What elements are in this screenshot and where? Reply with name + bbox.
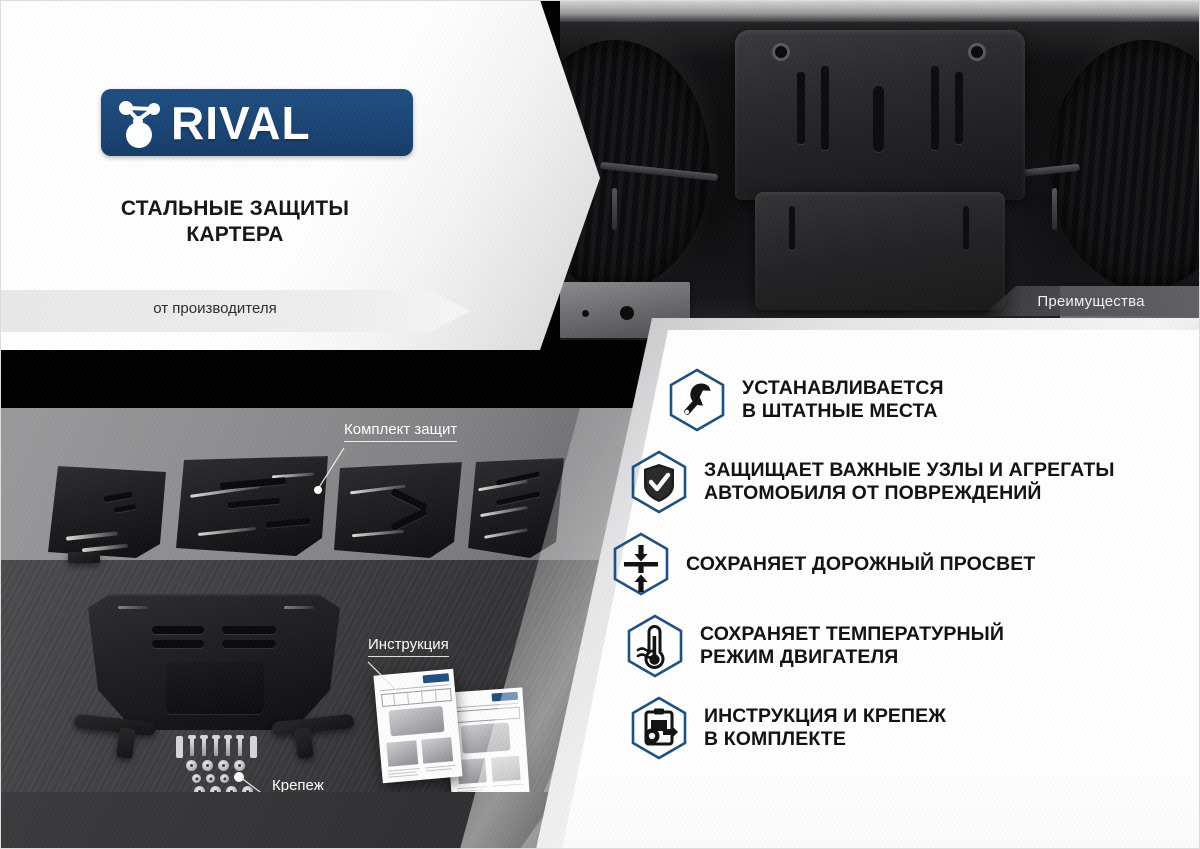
photo-plate-slot xyxy=(931,66,939,150)
sheet-photo xyxy=(386,740,418,767)
tab-advantages-label: Преимущества xyxy=(1037,293,1144,310)
instruction-sheet-front xyxy=(373,669,462,784)
bolt xyxy=(238,737,242,756)
plate-chevron xyxy=(390,488,427,511)
photo-pad-hole xyxy=(620,306,634,320)
sheet-table-cell xyxy=(435,690,437,701)
molecule-icon xyxy=(113,96,169,150)
page-title: СТАЛЬНЫЕ ЗАЩИТЫ КАРТЕРА xyxy=(0,196,470,248)
rival-logo: RIVAL xyxy=(101,89,413,156)
skid-plate-3 xyxy=(334,462,462,558)
washer xyxy=(234,760,245,771)
plate-highlight xyxy=(352,530,404,538)
plate-groove xyxy=(104,492,133,503)
nut xyxy=(206,774,215,783)
bolt xyxy=(226,737,230,756)
photo-top-edge xyxy=(560,0,1200,22)
shield-check-icon xyxy=(630,450,688,514)
callout-manual: Инструкция xyxy=(368,636,449,657)
plate-recess xyxy=(166,662,264,714)
skid-plate-1-tab xyxy=(68,552,100,563)
header-panel xyxy=(0,0,600,350)
tab-advantages[interactable]: Преимущества xyxy=(982,286,1200,316)
photo-sway-bar-left xyxy=(612,188,617,230)
feature-item-protection: ЗАЩИЩАЕТ ВАЖНЫЕ УЗЛЫ И АГРЕГАТЫ АВТОМОБИ… xyxy=(630,450,1192,514)
main-skid-plate xyxy=(88,594,340,730)
sheet-text-line xyxy=(426,768,452,771)
sheet-table xyxy=(381,688,452,707)
promo-banner: RIVAL СТАЛЬНЫЕ ЗАЩИТЫ КАРТЕРА от произво… xyxy=(0,0,1200,849)
sheet-diagram xyxy=(389,706,445,737)
photo-gearbox-skid-plate xyxy=(755,192,1005,310)
feature-label: УСТАНАВЛИВАЕТСЯ В ШТАТНЫЕ МЕСТА xyxy=(742,377,944,422)
plate-highlight xyxy=(480,506,528,517)
plate-groove xyxy=(114,504,137,513)
ground-clearance-icon xyxy=(612,532,670,596)
plate-chevron xyxy=(390,508,427,531)
feature-label: ЗАЩИЩАЕТ ВАЖНЫЕ УЗЛЫ И АГРЕГАТЫ АВТОМОБИ… xyxy=(704,459,1115,504)
bolt xyxy=(202,737,206,756)
plate-highlight xyxy=(118,606,148,609)
photo-plate-slot xyxy=(821,66,829,150)
sheet-table-cell xyxy=(393,694,395,705)
plate-slot xyxy=(222,626,276,634)
bolt-head xyxy=(224,735,232,739)
photo-pad-hole xyxy=(582,310,589,317)
bolt-head xyxy=(212,735,220,739)
photo-plate-slot xyxy=(797,72,805,144)
skid-plate-2 xyxy=(176,456,328,556)
sheet-text-line xyxy=(388,774,418,778)
bolt-head xyxy=(200,735,208,739)
thermometer-icon xyxy=(626,614,684,678)
bolt xyxy=(214,737,218,756)
wrench-icon xyxy=(668,368,726,432)
photo-plate-center-groove xyxy=(873,86,884,152)
photo-sway-bar-right xyxy=(1052,188,1057,230)
nut xyxy=(192,774,201,783)
sheet-photo xyxy=(421,737,453,764)
bolt-plate xyxy=(250,736,257,758)
page-subtitle: от производителя xyxy=(0,300,430,317)
bolt-plate xyxy=(176,736,183,758)
feature-item-clearance: СОХРАНЯЕТ ДОРОЖНЫЙ ПРОСВЕТ xyxy=(612,532,1192,596)
washer xyxy=(202,760,213,771)
page-title-line2: КАРТЕРА xyxy=(0,222,470,248)
plate-highlight xyxy=(66,531,118,540)
bolt xyxy=(190,737,194,756)
callout-kit: Комплект защит xyxy=(344,421,457,442)
features-list: УСТАНАВЛИВАЕТСЯ В ШТАТНЫЕ МЕСТА ЗАЩИЩАЕТ… xyxy=(612,368,1192,778)
nut xyxy=(234,772,244,782)
photo-plate-slot xyxy=(963,206,969,250)
callout-kit-label: Комплект защит xyxy=(344,421,457,442)
sheet-table-cell xyxy=(421,692,423,703)
feature-item-temperature: СОХРАНЯЕТ ТЕМПЕРАТУРНЫЙ РЕЖИМ ДВИГАТЕЛЯ xyxy=(626,614,1192,678)
plate-groove xyxy=(228,498,280,509)
callout-manual-label: Инструкция xyxy=(368,636,449,657)
photo-plate-slot xyxy=(789,206,795,250)
sheet-table-cell xyxy=(407,693,409,704)
feature-label: СОХРАНЯЕТ ТЕМПЕРАТУРНЫЙ РЕЖИМ ДВИГАТЕЛЯ xyxy=(700,623,1004,668)
clipboard-bolt-icon xyxy=(630,696,688,760)
page-title-line1: СТАЛЬНЫЕ ЗАЩИТЫ xyxy=(0,196,470,222)
skid-plate-1 xyxy=(48,466,166,558)
plate-groove xyxy=(496,491,540,505)
bolt-head xyxy=(236,735,244,739)
photo-plate-slot xyxy=(955,72,963,144)
plate-highlight xyxy=(484,528,528,539)
photo-plate-bolt-hole xyxy=(775,46,787,58)
photo-engine-skid-plate xyxy=(735,30,1025,200)
feature-label: СОХРАНЯЕТ ДОРОЖНЫЙ ПРОСВЕТ xyxy=(686,553,1035,576)
nut xyxy=(220,774,229,783)
plate-slot xyxy=(152,626,204,634)
washer xyxy=(218,760,229,771)
feature-item-kit: ИНСТРУКЦИЯ И КРЕПЕЖ В КОМПЛЕКТЕ xyxy=(630,696,1192,760)
photo-plate-bolt-hole xyxy=(971,46,983,58)
washer xyxy=(186,760,197,771)
feature-label: ИНСТРУКЦИЯ И КРЕПЕЖ В КОМПЛЕКТЕ xyxy=(704,705,946,750)
plate-slot xyxy=(152,640,204,648)
plate-highlight xyxy=(284,606,314,609)
rival-wordmark: RIVAL xyxy=(171,100,311,146)
plate-highlight xyxy=(198,527,256,536)
plate-slot xyxy=(222,640,276,648)
plate-groove xyxy=(266,518,310,528)
sheet-logo xyxy=(423,673,450,683)
feature-item-install: УСТАНАВЛИВАЕТСЯ В ШТАТНЫЕ МЕСТА xyxy=(668,368,1192,432)
bolt-head xyxy=(188,735,196,739)
